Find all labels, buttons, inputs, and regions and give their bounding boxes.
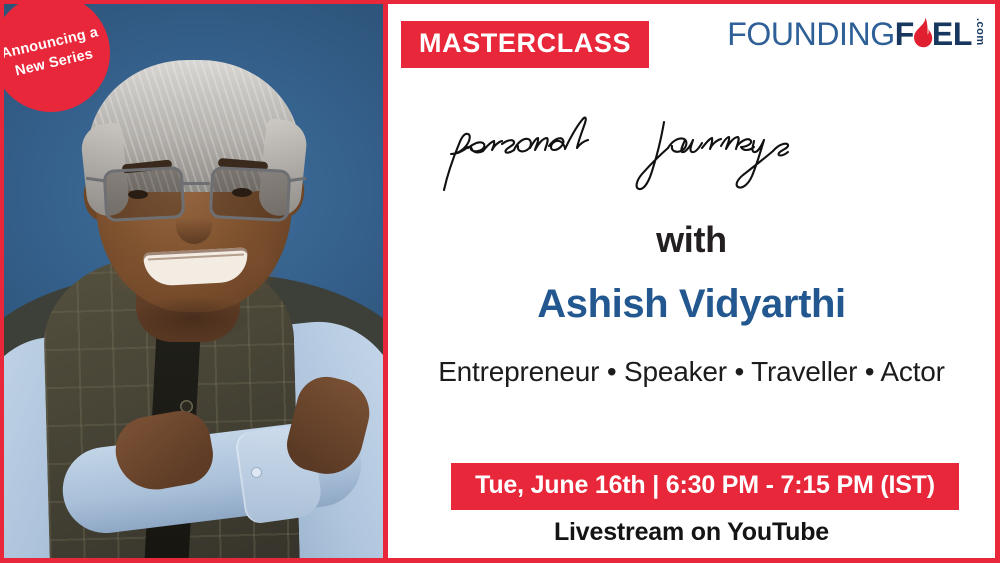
glasses-bridge-shape <box>178 182 210 185</box>
left-lens-shape <box>103 166 186 222</box>
livestream-info: Livestream on YouTube <box>388 518 995 547</box>
logo-dotcom-text: .com <box>974 18 985 46</box>
speaker-photo-panel: Announcing a New Series <box>4 4 383 558</box>
content-panel: MASTERCLASS FOUNDINGF EL .com <box>388 4 995 558</box>
logo-el-letters: EL <box>932 17 972 51</box>
nose-shape <box>176 200 212 244</box>
flame-icon <box>913 17 933 47</box>
chin-shading <box>134 296 252 340</box>
event-datetime-bar: Tue, June 16th | 6:30 PM - 7:15 PM (IST) <box>451 463 959 510</box>
cuff-button-shape <box>252 468 261 477</box>
logo-f-letter: F <box>895 17 914 51</box>
speaker-name: Ashish Vidyarthi <box>388 282 995 327</box>
script-headline <box>388 100 995 192</box>
with-label: with <box>388 219 995 261</box>
right-lens-shape <box>209 166 292 222</box>
promo-poster: Announcing a New Series MASTERCLASS FOUN… <box>0 0 1000 563</box>
announcement-badge-text: Announcing a New Series <box>4 23 107 85</box>
speaker-roles: Entrepreneur • Speaker • Traveller • Act… <box>388 356 995 388</box>
logo-founding-text: FOUNDING <box>727 17 894 51</box>
foundingfuel-logo[interactable]: FOUNDINGF EL .com <box>727 17 985 59</box>
masterclass-tag: MASTERCLASS <box>401 21 649 68</box>
